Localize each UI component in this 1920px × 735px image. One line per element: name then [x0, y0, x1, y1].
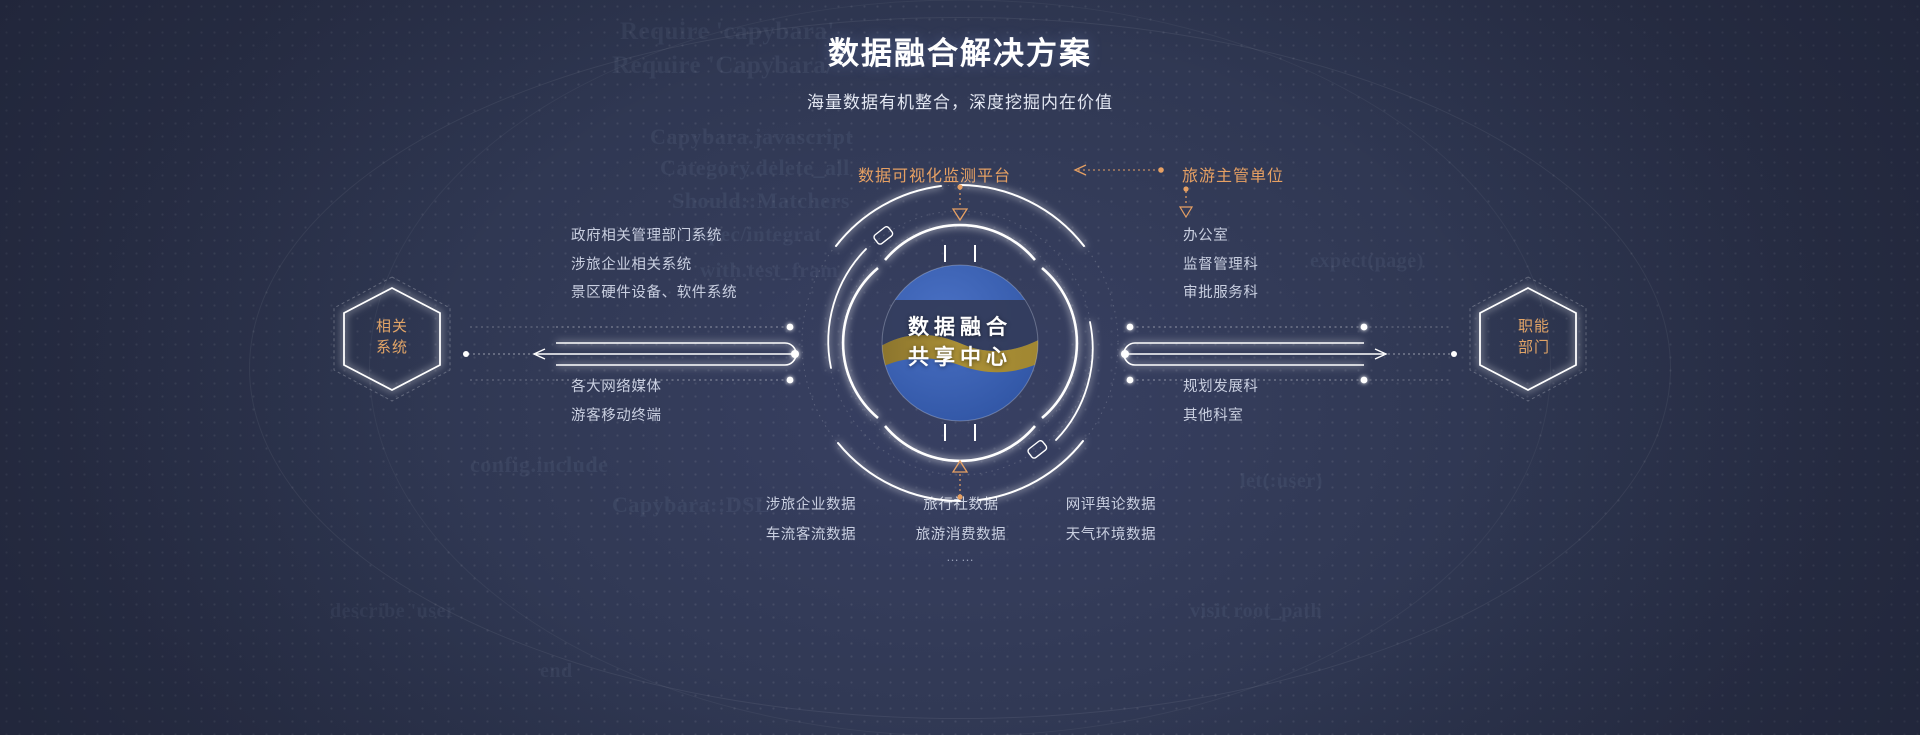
bottom-center-connector [953, 461, 967, 500]
data-fusion-globe [876, 265, 1046, 421]
page-title: 数据融合解决方案 [0, 32, 1920, 76]
hexagon-right-frame [1470, 277, 1586, 401]
left-connector-bus [463, 324, 799, 384]
hexagon-left-frame [334, 277, 450, 401]
right-connector-bus [1121, 324, 1457, 384]
page-header: 数据融合解决方案 海量数据有机整合，深度挖掘内在价值 [0, 32, 1920, 116]
top-labels-connector-arrow [1075, 165, 1164, 175]
right-column-connector [1180, 186, 1192, 217]
top-center-connector [953, 184, 967, 220]
page-subtitle: 海量数据有机整合，深度挖掘内在价值 [0, 90, 1920, 116]
